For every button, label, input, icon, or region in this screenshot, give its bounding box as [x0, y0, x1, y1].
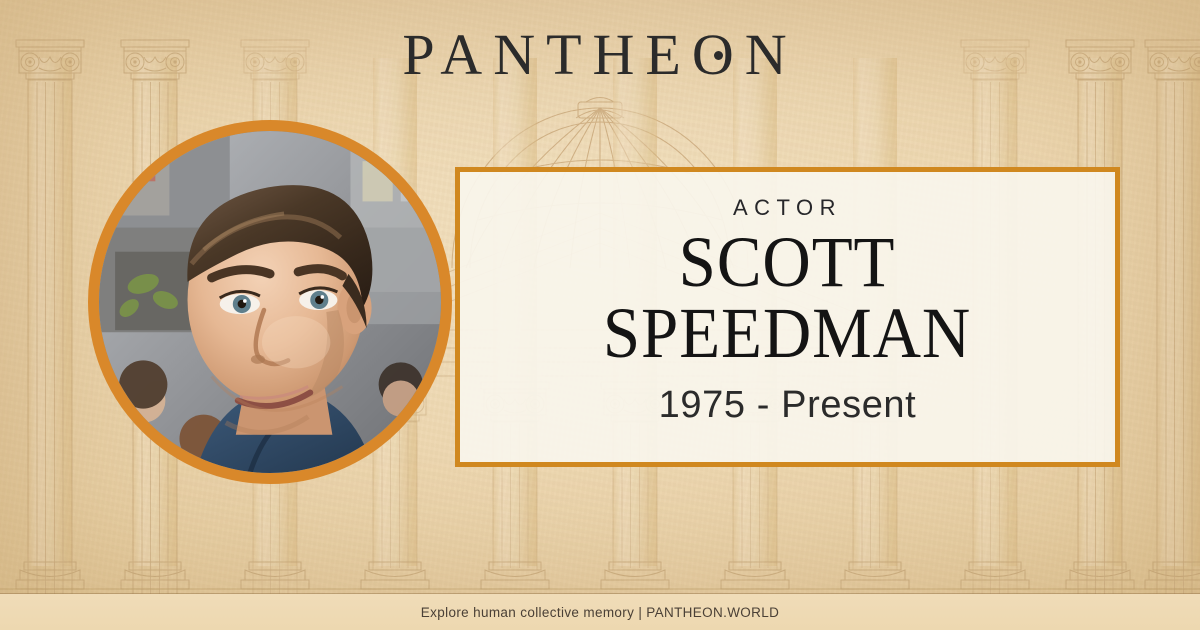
logo-oculus-o: O	[692, 26, 745, 84]
occupation-label: ACTOR	[733, 195, 842, 221]
logo-text-before: PANTHE	[402, 22, 691, 87]
avatar	[88, 120, 452, 484]
footer-tagline: Explore human collective memory | PANTHE…	[421, 605, 779, 620]
footer-bar: Explore human collective memory | PANTHE…	[0, 594, 1200, 630]
logo-text-after: N	[745, 22, 798, 87]
person-name-line-2: SPEEDMAN	[603, 298, 971, 369]
lifespan-label: 1975 - Present	[659, 384, 917, 427]
pantheon-profile-card: PANTHEON	[0, 0, 1200, 630]
pantheon-logo: PANTHEON	[0, 26, 1200, 84]
portrait-photo	[99, 131, 441, 473]
person-info-card: ACTOR SCOTT SPEEDMAN 1975 - Present	[455, 167, 1120, 467]
person-name: SCOTT SPEEDMAN	[603, 227, 971, 370]
person-name-line-1: SCOTT	[603, 227, 971, 298]
